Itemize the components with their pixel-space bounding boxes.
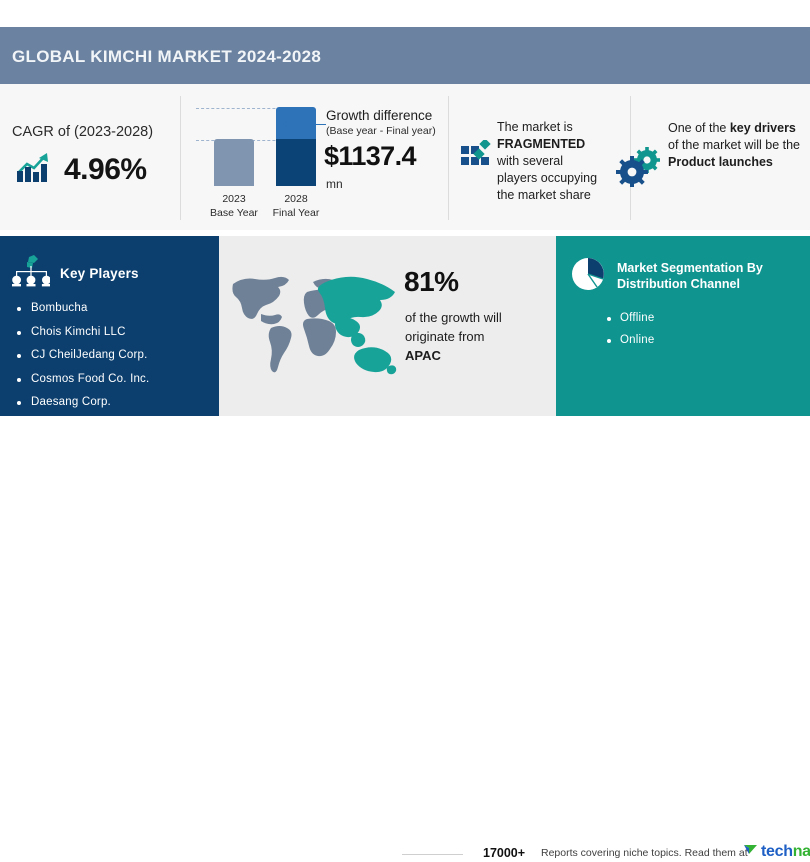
key-players-header: Key Players <box>12 254 139 293</box>
world-map-icon <box>227 262 407 387</box>
cagr-label: CAGR of (2023-2028) <box>12 124 153 140</box>
key-players-panel: Key Players Bombucha Chois Kimchi LLC CJ… <box>0 236 219 416</box>
footer-divider <box>402 854 463 855</box>
growth-difference-title: Growth difference <box>326 108 432 123</box>
bar-2028-label: 2028 Final Year <box>268 192 324 220</box>
region-description: of the growth will originate from APAC <box>405 308 545 365</box>
footer-report-count: 17000+ <box>483 846 525 860</box>
technavio-logo[interactable]: technav <box>743 842 810 862</box>
growth-bar-chart: 2023 Base Year 2028 Final Year <box>196 100 331 220</box>
list-item: Online <box>605 334 654 346</box>
list-item: CJ CheilJedang Corp. <box>14 349 149 361</box>
infographic-canvas: GLOBAL KIMCHI MARKET 2024-2028 CAGR of (… <box>0 0 810 480</box>
network-hierarchy-icon <box>12 254 50 293</box>
region-desc-line-3: APAC <box>405 348 441 363</box>
page-title: GLOBAL KIMCHI MARKET 2024-2028 <box>12 47 321 67</box>
list-item: Bombucha <box>14 302 149 314</box>
bar-2023-body <box>214 139 254 186</box>
key-players-list: Bombucha Chois Kimchi LLC CJ CheilJedang… <box>14 302 149 420</box>
technavio-arrow-icon <box>743 842 758 862</box>
divider-2 <box>448 96 449 220</box>
region-percent: 81% <box>404 266 459 298</box>
list-item: Offline <box>605 312 654 324</box>
growth-callout-line <box>288 124 326 125</box>
bar-2028-base-segment <box>276 139 316 186</box>
bar-2028-growth-segment <box>276 107 316 139</box>
pie-chart-icon <box>570 256 606 297</box>
key-players-title: Key Players <box>60 266 139 281</box>
footer: 17000+ Reports covering niche topics. Re… <box>0 416 810 480</box>
segmentation-title: Market Segmentation By Distribution Chan… <box>617 256 763 292</box>
drivers-line-1-prefix: One of the <box>668 121 730 135</box>
bar-chart-growth-icon <box>14 150 54 189</box>
drivers-line-3: Product launches <box>668 155 773 169</box>
fragmented-line-5: the market share <box>497 188 591 202</box>
footer-text: Reports covering niche topics. Read them… <box>541 847 748 859</box>
key-drivers-text: One of the key drivers of the market wil… <box>668 120 810 171</box>
segmentation-list: Offline Online <box>605 312 654 356</box>
growth-difference-value: $1137.4 <box>324 141 416 172</box>
divider-1 <box>180 96 181 220</box>
fragmented-squares-icon <box>461 140 491 177</box>
drivers-line-1-bold: key drivers <box>730 121 796 135</box>
segmentation-title-line-1: Market Segmentation By <box>617 261 763 275</box>
list-item: Daesang Corp. <box>14 396 149 408</box>
fragmented-line-4: players occupying <box>497 171 597 185</box>
fragmented-line-1: The market is <box>497 120 573 134</box>
bar-2023 <box>214 139 254 186</box>
fragmented-text: The market is FRAGMENTED with several pl… <box>497 119 617 204</box>
technavio-wordmark: technav <box>761 843 810 861</box>
segmentation-header: Market Segmentation By Distribution Chan… <box>570 256 763 297</box>
gears-icon <box>616 147 662 192</box>
region-desc-line-2: originate from <box>405 329 484 344</box>
logo-part-nav: nav <box>793 843 810 860</box>
logo-part-tech: tech <box>761 843 793 860</box>
growth-difference-subtitle: (Base year - Final year) <box>326 125 436 137</box>
fragmented-line-2: FRAGMENTED <box>497 137 585 151</box>
region-map-panel: 81% of the growth will originate from AP… <box>219 236 556 416</box>
region-desc-line-1: of the growth will <box>405 310 502 325</box>
cagr-row: 4.96% <box>14 150 147 189</box>
bar-2028 <box>276 107 316 186</box>
segmentation-panel: Market Segmentation By Distribution Chan… <box>556 236 810 416</box>
list-item: Cosmos Food Co. Inc. <box>14 373 149 385</box>
list-item: Chois Kimchi LLC <box>14 326 149 338</box>
growth-callout-arrow-icon <box>283 120 289 128</box>
cagr-value: 4.96% <box>64 153 147 187</box>
growth-difference-unit: mn <box>326 177 343 191</box>
segmentation-title-line-2: Distribution Channel <box>617 277 740 291</box>
bar-2023-label: 2023 Base Year <box>206 192 262 220</box>
drivers-line-2: of the market will be the <box>668 138 800 152</box>
fragmented-line-3: with several <box>497 154 563 168</box>
